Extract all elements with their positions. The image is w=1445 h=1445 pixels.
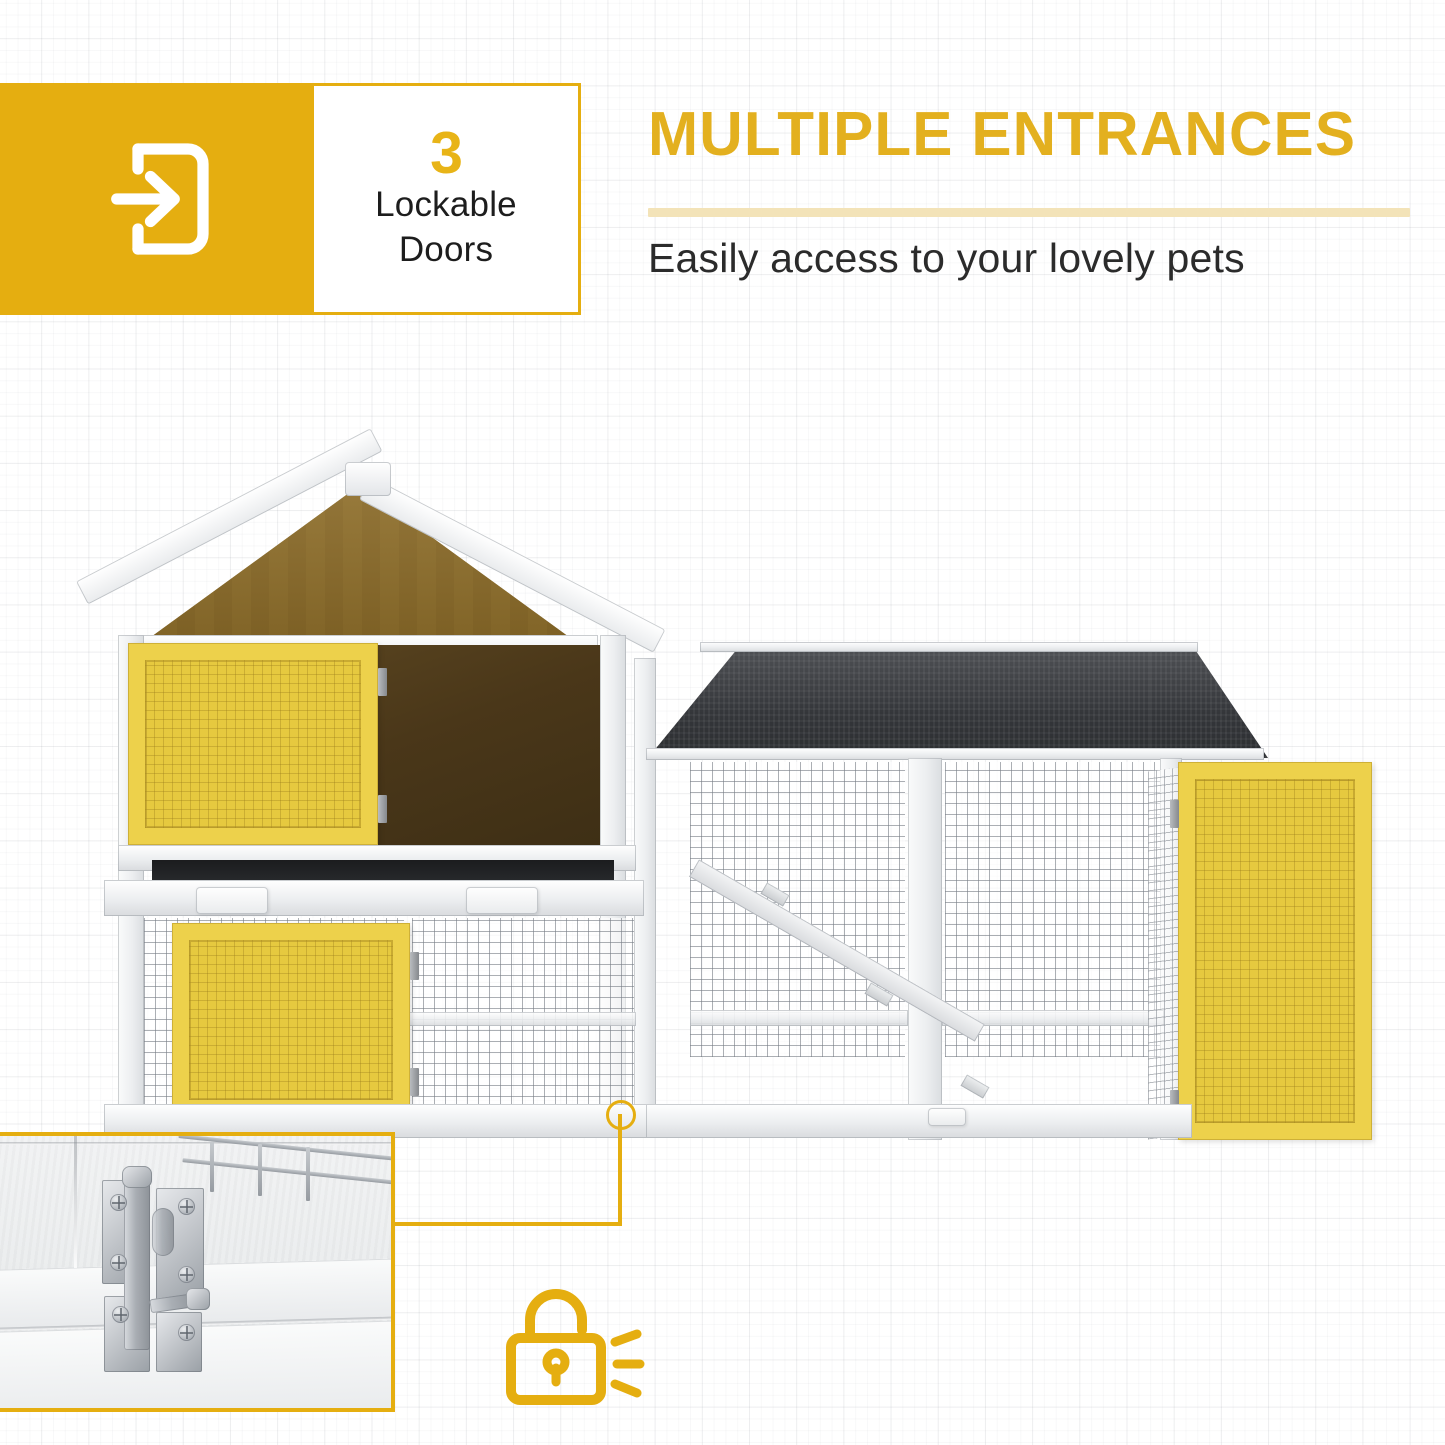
latch-screw-6 <box>178 1324 195 1341</box>
headline-divider <box>648 208 1410 217</box>
callout-connector-horizontal <box>395 1222 622 1226</box>
lower-mesh-midrail <box>404 1012 636 1026</box>
latch-bolt-rod[interactable] <box>124 1170 150 1350</box>
headline-title: MULTIPLE ENTRANCES <box>648 104 1395 166</box>
run-midrail-left <box>690 1010 908 1026</box>
inset-vertical-seam <box>74 1136 77 1268</box>
latch-screw-5 <box>112 1306 129 1323</box>
lower-door-mesh <box>189 940 393 1100</box>
run-mesh-door[interactable] <box>1178 762 1372 1140</box>
tray-handle-left[interactable] <box>196 887 268 914</box>
callout-connector-vertical <box>618 1114 622 1225</box>
tray-front-lip[interactable] <box>104 880 644 916</box>
ramp-step-3 <box>960 1074 989 1098</box>
run-post-mid <box>908 758 942 1140</box>
inset-wire-post-2 <box>258 1144 262 1196</box>
latch-screw-1 <box>110 1194 127 1211</box>
latch-bolt-cap <box>122 1166 152 1188</box>
inset-board-seam-top <box>0 1142 395 1145</box>
run-door-hinge-top <box>1170 800 1179 828</box>
upper-mesh-door[interactable] <box>128 643 378 845</box>
latch-screw-3 <box>178 1198 195 1215</box>
inset-wire-post-3 <box>306 1147 310 1201</box>
product-illustration <box>0 440 1445 1140</box>
latch-keeper-lower <box>156 1312 202 1372</box>
latch-screw-2 <box>110 1254 127 1271</box>
door-exit-arrow-icon <box>95 139 221 259</box>
run-base-latch[interactable] <box>928 1108 966 1126</box>
run-roof-ridge <box>700 642 1198 652</box>
latch-knob[interactable] <box>186 1288 210 1310</box>
lower-door-hinge-top <box>410 952 419 980</box>
latch-detail-inset <box>0 1132 395 1412</box>
run-roof-slope-right <box>1150 648 1268 758</box>
feature-badge-icon-block <box>0 83 316 315</box>
lower-mesh-door[interactable] <box>172 923 410 1117</box>
inset-wire-post-1 <box>210 1142 214 1192</box>
latch-screw-4 <box>178 1266 195 1283</box>
upper-door-mesh <box>145 660 361 828</box>
feature-count: 3 <box>430 125 462 181</box>
lower-door-hinge-bottom <box>410 1068 419 1096</box>
run-door-mesh <box>1195 779 1355 1123</box>
upper-door-hinge-bottom <box>378 795 387 823</box>
headline-subtitle: Easily access to your lovely pets <box>648 235 1418 282</box>
upper-door-hinge-top <box>378 668 387 696</box>
unlocked-padlock-icon <box>497 1280 645 1420</box>
tray-handle-right[interactable] <box>466 887 538 914</box>
run-roof-slope-left <box>648 648 1178 758</box>
product-feature-banner: 3 Lockable Doors MULTIPLE ENTRANCES Easi… <box>0 0 1445 1445</box>
run-base-rail <box>646 1104 1192 1138</box>
feature-label-line1: Lockable <box>375 182 517 228</box>
feature-label-line2: Doors <box>399 227 493 273</box>
feature-badge-text-block: 3 Lockable Doors <box>314 83 581 315</box>
latch-spring-loop <box>152 1208 174 1256</box>
roof-ridge-cap <box>345 462 391 496</box>
